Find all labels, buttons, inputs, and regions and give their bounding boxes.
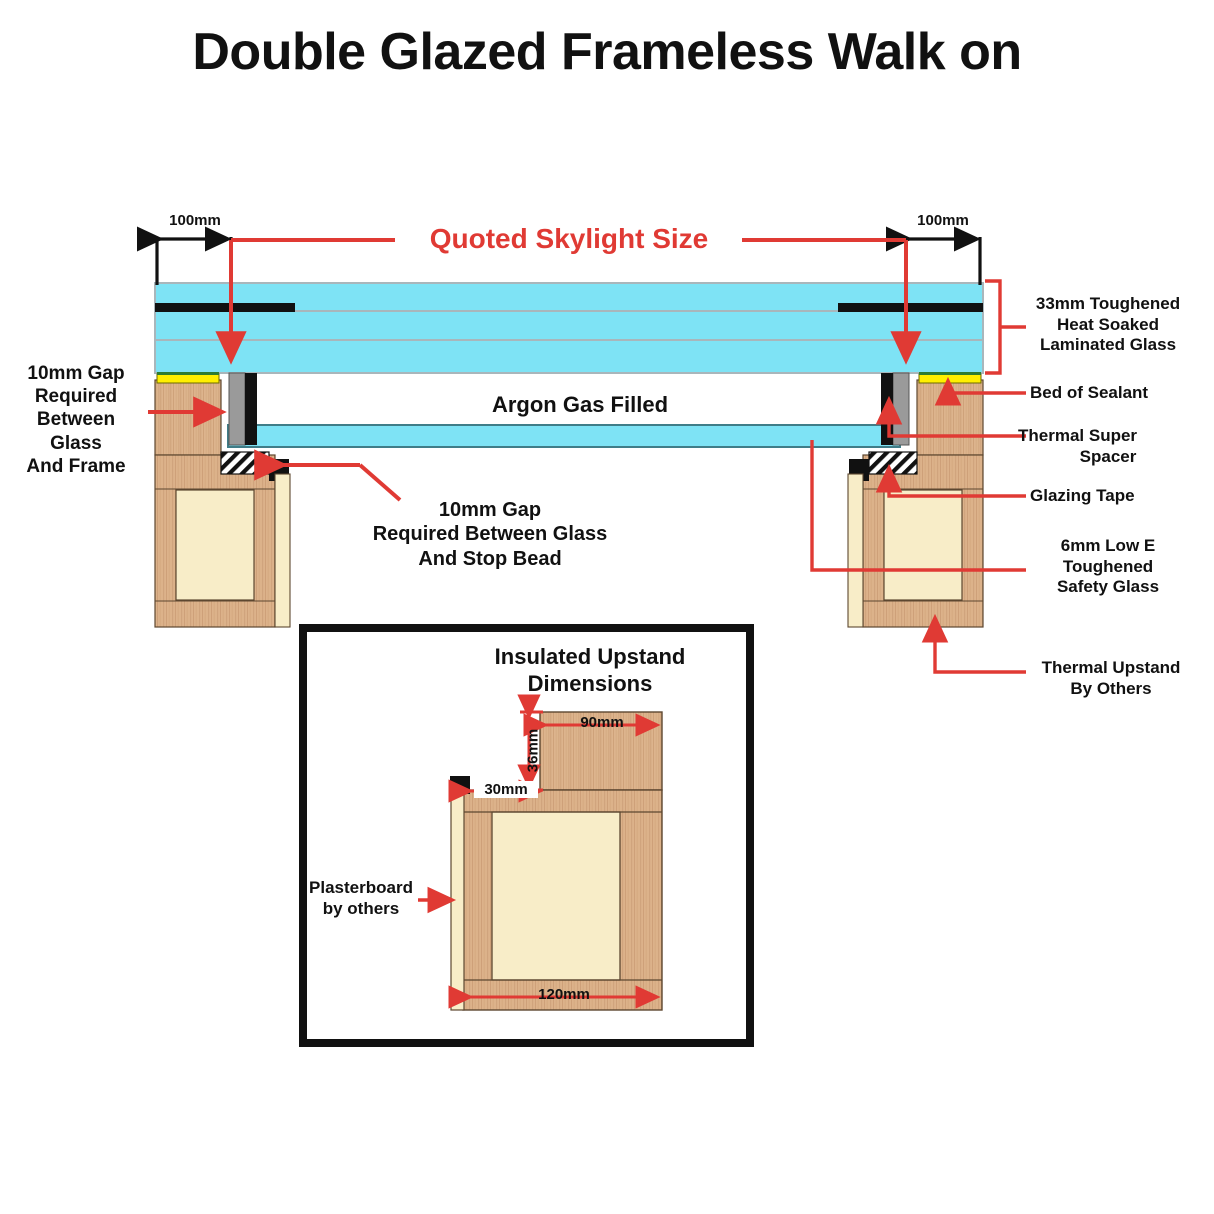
laminated-glass-line-3: Laminated Glass: [1018, 335, 1198, 356]
inset-dim-36mm: 36mm: [525, 723, 542, 779]
technical-drawing: [0, 0, 1214, 1214]
laminated-glass-line-2: Heat Soaked: [1018, 315, 1198, 336]
laminated-glass-line-1: 33mm Toughened: [1018, 294, 1198, 315]
label-low-e-glass: 6mm Low E Toughened Safety Glass: [1018, 536, 1198, 598]
gap-stopbead-line-2: Required Between Glass: [320, 522, 660, 546]
low-e-line-2: Toughened: [1018, 557, 1198, 578]
gap-glass-stopbead-label: 10mm Gap Required Between Glass And Stop…: [320, 498, 660, 571]
low-e-glass-pane: [228, 425, 900, 447]
inset-title-line-1: Insulated Upstand: [430, 644, 750, 671]
gap-stopbead-line-3: And Stop Bead: [320, 547, 660, 571]
label-thermal-upstand: Thermal Upstand By Others: [1012, 658, 1210, 699]
page-title: Double Glazed Frameless Walk on: [0, 22, 1214, 82]
label-thermal-super-spacer: Thermal Super Spacer: [1018, 426, 1198, 467]
quoted-skylight-size-label: Quoted Skylight Size: [392, 222, 746, 256]
thermal-upstand-line-2: By Others: [1012, 679, 1210, 700]
dimension-label-right-100mm: 100mm: [898, 212, 988, 229]
thermal-spacer-line-2: Spacer: [1018, 447, 1198, 468]
low-e-line-1: 6mm Low E: [1018, 536, 1198, 557]
thermal-upstand-line-1: Thermal Upstand: [1012, 658, 1210, 679]
inset-title: Insulated Upstand Dimensions: [430, 644, 750, 698]
dimension-label-left-100mm: 100mm: [150, 212, 240, 229]
laminated-glass-stack: [155, 283, 983, 373]
label-laminated-glass: 33mm Toughened Heat Soaked Laminated Gla…: [1018, 294, 1198, 356]
gap-frame-line-1: 10mm Gap: [2, 362, 150, 385]
dimension-100mm-left: [157, 237, 231, 285]
gap-frame-line-5: And Frame: [2, 455, 150, 478]
gap-stopbead-leader: [283, 465, 400, 500]
gap-frame-line-3: Between: [2, 408, 150, 431]
gap-stopbead-line-1: 10mm Gap: [320, 498, 660, 522]
diagram-canvas: Double Glazed Frameless Walk on 100mm 10…: [0, 0, 1214, 1214]
label-bed-of-sealant: Bed of Sealant: [1030, 383, 1214, 404]
inset-dim-90mm: 90mm: [560, 714, 644, 731]
dimension-100mm-right: [906, 237, 980, 285]
inset-title-line-2: Dimensions: [430, 671, 750, 698]
low-e-line-3: Safety Glass: [1018, 577, 1198, 598]
gap-glass-frame-label: 10mm Gap Required Between Glass And Fram…: [2, 362, 150, 478]
glazing-tape-line-1: Glazing Tape: [1030, 486, 1214, 507]
label-plasterboard: Plasterboard by others: [298, 878, 424, 919]
plasterboard-line-2: by others: [298, 899, 424, 920]
label-glazing-tape: Glazing Tape: [1030, 486, 1214, 507]
thermal-spacer-line-1: Thermal Super: [1018, 426, 1198, 447]
inset-dim-120mm: 120mm: [518, 986, 610, 1003]
argon-gas-filled-label: Argon Gas Filled: [430, 392, 730, 419]
right-upstand: [848, 372, 983, 627]
plasterboard-line-1: Plasterboard: [298, 878, 424, 899]
gap-frame-line-4: Glass: [2, 432, 150, 455]
gap-frame-line-2: Required: [2, 385, 150, 408]
bed-of-sealant-line-1: Bed of Sealant: [1030, 383, 1214, 404]
inset-dim-30mm: 30mm: [474, 781, 538, 798]
